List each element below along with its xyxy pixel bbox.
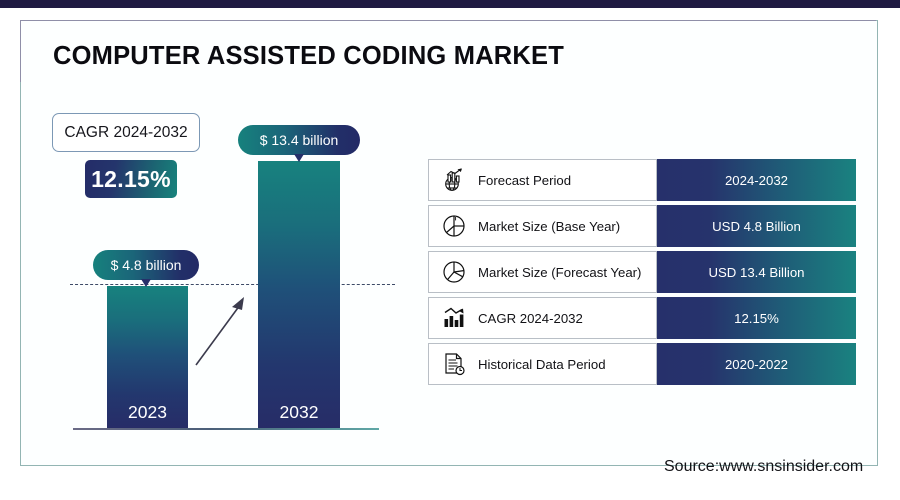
table-row-label-cell: Market Size (Base Year)	[428, 205, 657, 247]
bar-chart: 2023 2032 $ 4.8 billion $ 13.4 billion	[0, 8, 420, 468]
infographic-page: COMPUTER ASSISTED CODING MARKET CAGR 202…	[0, 8, 900, 500]
table-row-value-cell: 2020-2022	[657, 343, 856, 385]
table-row-value: 2020-2022	[725, 357, 788, 372]
table-row-value: USD 13.4 Billion	[708, 265, 804, 280]
table-row: CAGR 2024-2032 12.15%	[428, 297, 856, 339]
market-summary-table: Forecast Period 2024-2032 M	[428, 159, 856, 389]
pie-chart-three-slice-icon	[439, 257, 469, 287]
growth-arrow-icon	[190, 293, 252, 371]
table-row-label: Historical Data Period	[478, 357, 606, 372]
top-accent-bar	[0, 0, 900, 8]
table-row-label: CAGR 2024-2032	[478, 311, 583, 326]
table-row-label-cell: Market Size (Forecast Year)	[428, 251, 657, 293]
x-axis-line	[73, 428, 379, 430]
bar-2032: 2032	[258, 161, 340, 429]
baseline-dashed-guide	[70, 284, 395, 285]
bar-chart-trend-icon	[439, 303, 469, 333]
pie-chart-icon	[439, 211, 469, 241]
source-attribution: Source:www.snsinsider.com	[664, 458, 863, 476]
bar-label-2032: 2032	[258, 402, 340, 423]
value-pill-2023: $ 4.8 billion	[93, 250, 199, 280]
table-row-value: 12.15%	[734, 311, 779, 326]
table-row-value-cell: 2024-2032	[657, 159, 856, 201]
globe-bar-chart-icon	[439, 165, 469, 195]
value-pill-2032-text: $ 13.4 billion	[260, 132, 339, 148]
table-row-value-cell: USD 13.4 Billion	[657, 251, 856, 293]
table-row: Historical Data Period 2020-2022	[428, 343, 856, 385]
table-row-label-cell: Historical Data Period	[428, 343, 657, 385]
table-row: Market Size (Base Year) USD 4.8 Billion	[428, 205, 856, 247]
table-row: Market Size (Forecast Year) USD 13.4 Bil…	[428, 251, 856, 293]
table-row-label-cell: CAGR 2024-2032	[428, 297, 657, 339]
document-clock-icon	[439, 349, 469, 379]
bar-2023: 2023	[107, 286, 188, 429]
table-row-label: Market Size (Forecast Year)	[478, 265, 641, 280]
table-row-label-cell: Forecast Period	[428, 159, 657, 201]
table-row-value: USD 4.8 Billion	[712, 219, 801, 234]
table-row-label: Market Size (Base Year)	[478, 219, 620, 234]
value-pill-2023-text: $ 4.8 billion	[111, 257, 182, 273]
bar-label-2023: 2023	[107, 402, 188, 423]
table-row-label: Forecast Period	[478, 173, 571, 188]
table-row-value-cell: 12.15%	[657, 297, 856, 339]
value-pill-2032: $ 13.4 billion	[238, 125, 360, 155]
table-row: Forecast Period 2024-2032	[428, 159, 856, 201]
table-row-value: 2024-2032	[725, 173, 788, 188]
table-row-value-cell: USD 4.8 Billion	[657, 205, 856, 247]
